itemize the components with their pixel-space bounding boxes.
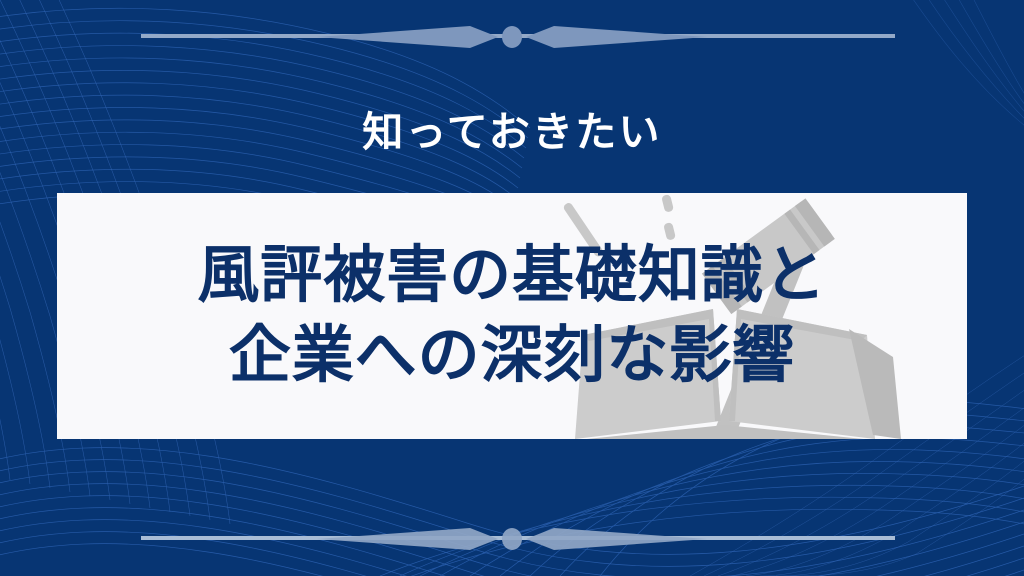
headline-block: 風評被害の基礎知識と 企業への深刻な影響 [57,193,967,439]
top-divider [0,20,1024,54]
title-slide: 知っておきたい [0,0,1024,576]
bottom-divider [0,522,1024,556]
headline-line-2: 企業への深刻な影響 [229,318,795,394]
headline-card: 風評被害の基礎知識と 企業への深刻な影響 [57,193,967,439]
headline-line-1: 風評被害の基礎知識と [197,238,826,314]
eyebrow-text: 知っておきたい [0,108,1024,157]
